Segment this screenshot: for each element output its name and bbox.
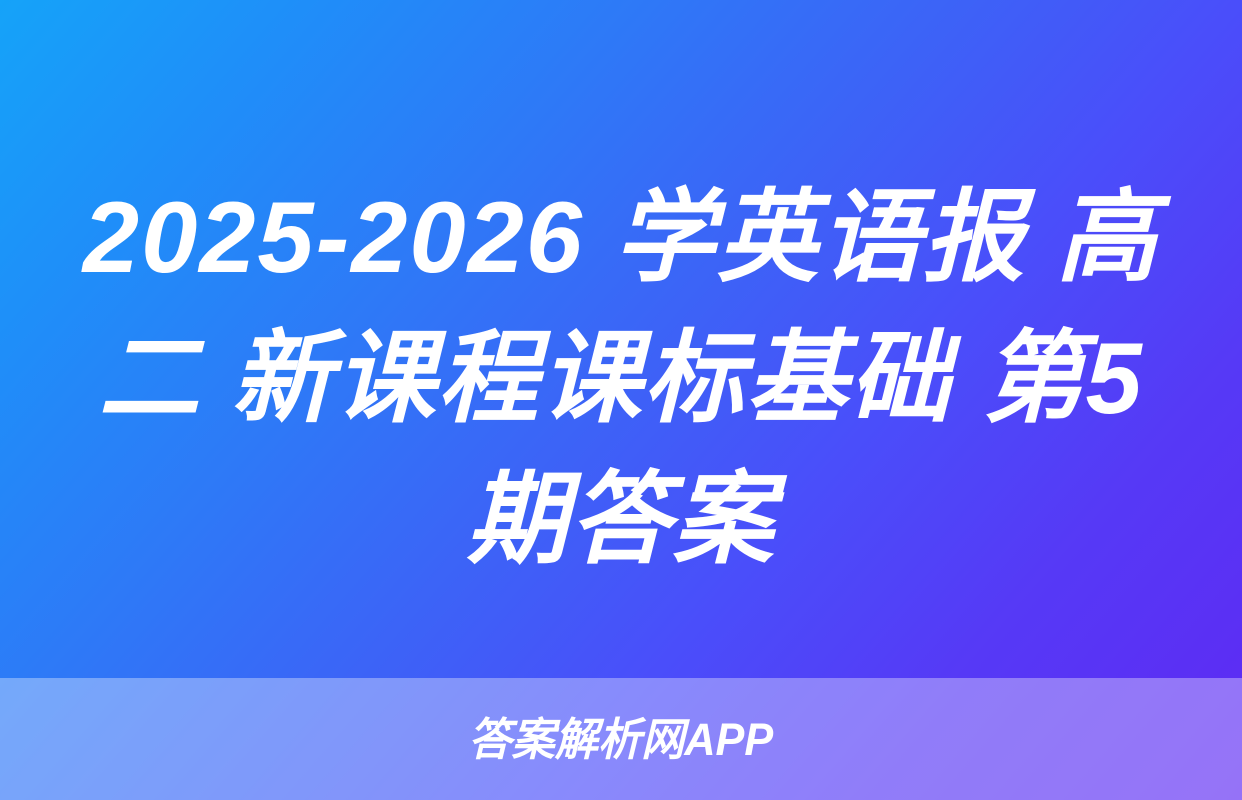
headline-block: 2025-2026 学英语报 高 二 新课程课标基础 第5 期答案 <box>0 168 1242 638</box>
headline-line-3: 期答案 <box>40 450 1202 591</box>
headline-line-2: 二 新课程课标基础 第5 <box>40 309 1202 450</box>
app-brand-label: 答案解析网APP <box>469 717 774 762</box>
headline-line-1: 2025-2026 学英语报 高 <box>40 168 1202 309</box>
footer-band: 答案解析网APP <box>0 678 1242 800</box>
poster-canvas: 2025-2026 学英语报 高 二 新课程课标基础 第5 期答案 答案解析网A… <box>0 0 1242 800</box>
